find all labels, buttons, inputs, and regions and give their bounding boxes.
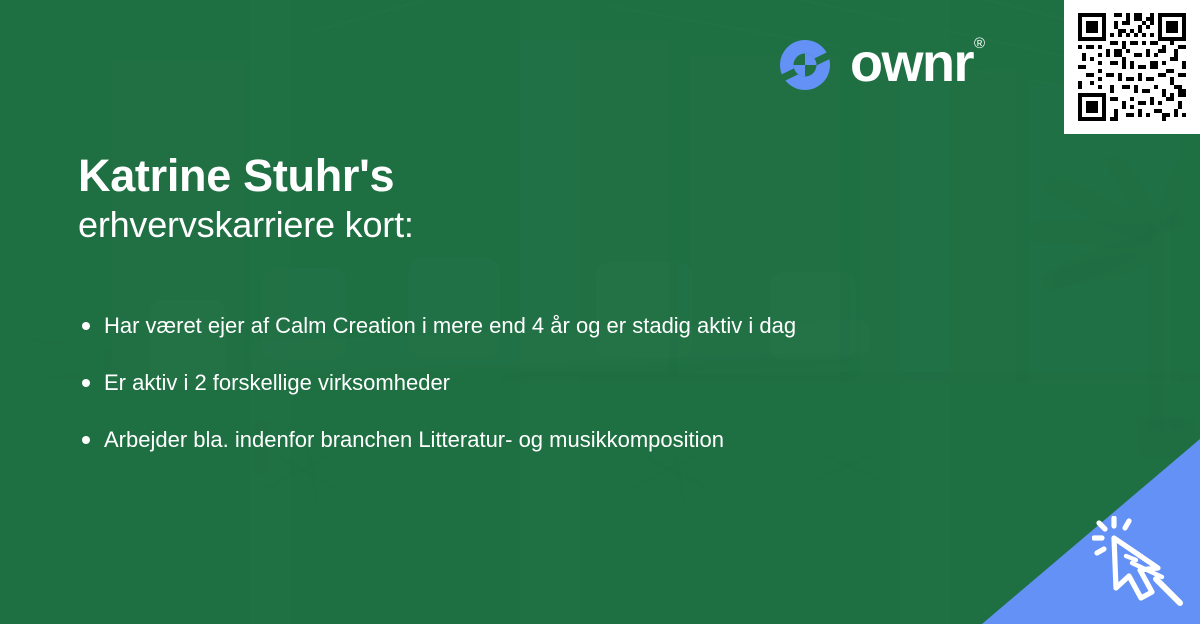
ownr-wordmark-text: ownr (850, 33, 973, 93)
fact-text: Har været ejer af Calm Creation i mere e… (104, 313, 796, 338)
ownr-logo[interactable]: ownr® (776, 36, 984, 94)
headline-block: Katrine Stuhr's erhvervskarriere kort: (78, 152, 414, 246)
ownr-circle-swirl-icon (776, 36, 834, 94)
fact-text: Arbejder bla. indenfor branchen Litterat… (104, 427, 724, 452)
qr-code-panel[interactable] (1064, 0, 1200, 134)
business-card: ownr® Katrine Stuhr's erhvervskarriere k… (0, 0, 1200, 624)
bullet-icon (82, 436, 90, 444)
ownr-wordmark: ownr® (850, 36, 984, 90)
person-name: Katrine Stuhr's (78, 152, 414, 199)
mouse-cursor-click-icon (1092, 516, 1194, 618)
bullet-icon (82, 322, 90, 330)
registered-trademark-symbol: ® (974, 35, 985, 52)
bullet-icon (82, 379, 90, 387)
career-facts-list: Har været ejer af Calm Creation i mere e… (78, 310, 958, 456)
list-item: Har været ejer af Calm Creation i mere e… (78, 310, 958, 341)
fact-text: Er aktiv i 2 forskellige virksomheder (104, 370, 450, 395)
headline-subtitle: erhvervskarriere kort: (78, 205, 414, 245)
list-item: Arbejder bla. indenfor branchen Litterat… (78, 424, 958, 455)
list-item: Er aktiv i 2 forskellige virksomheder (78, 367, 958, 398)
qr-code-icon[interactable] (1074, 9, 1190, 125)
